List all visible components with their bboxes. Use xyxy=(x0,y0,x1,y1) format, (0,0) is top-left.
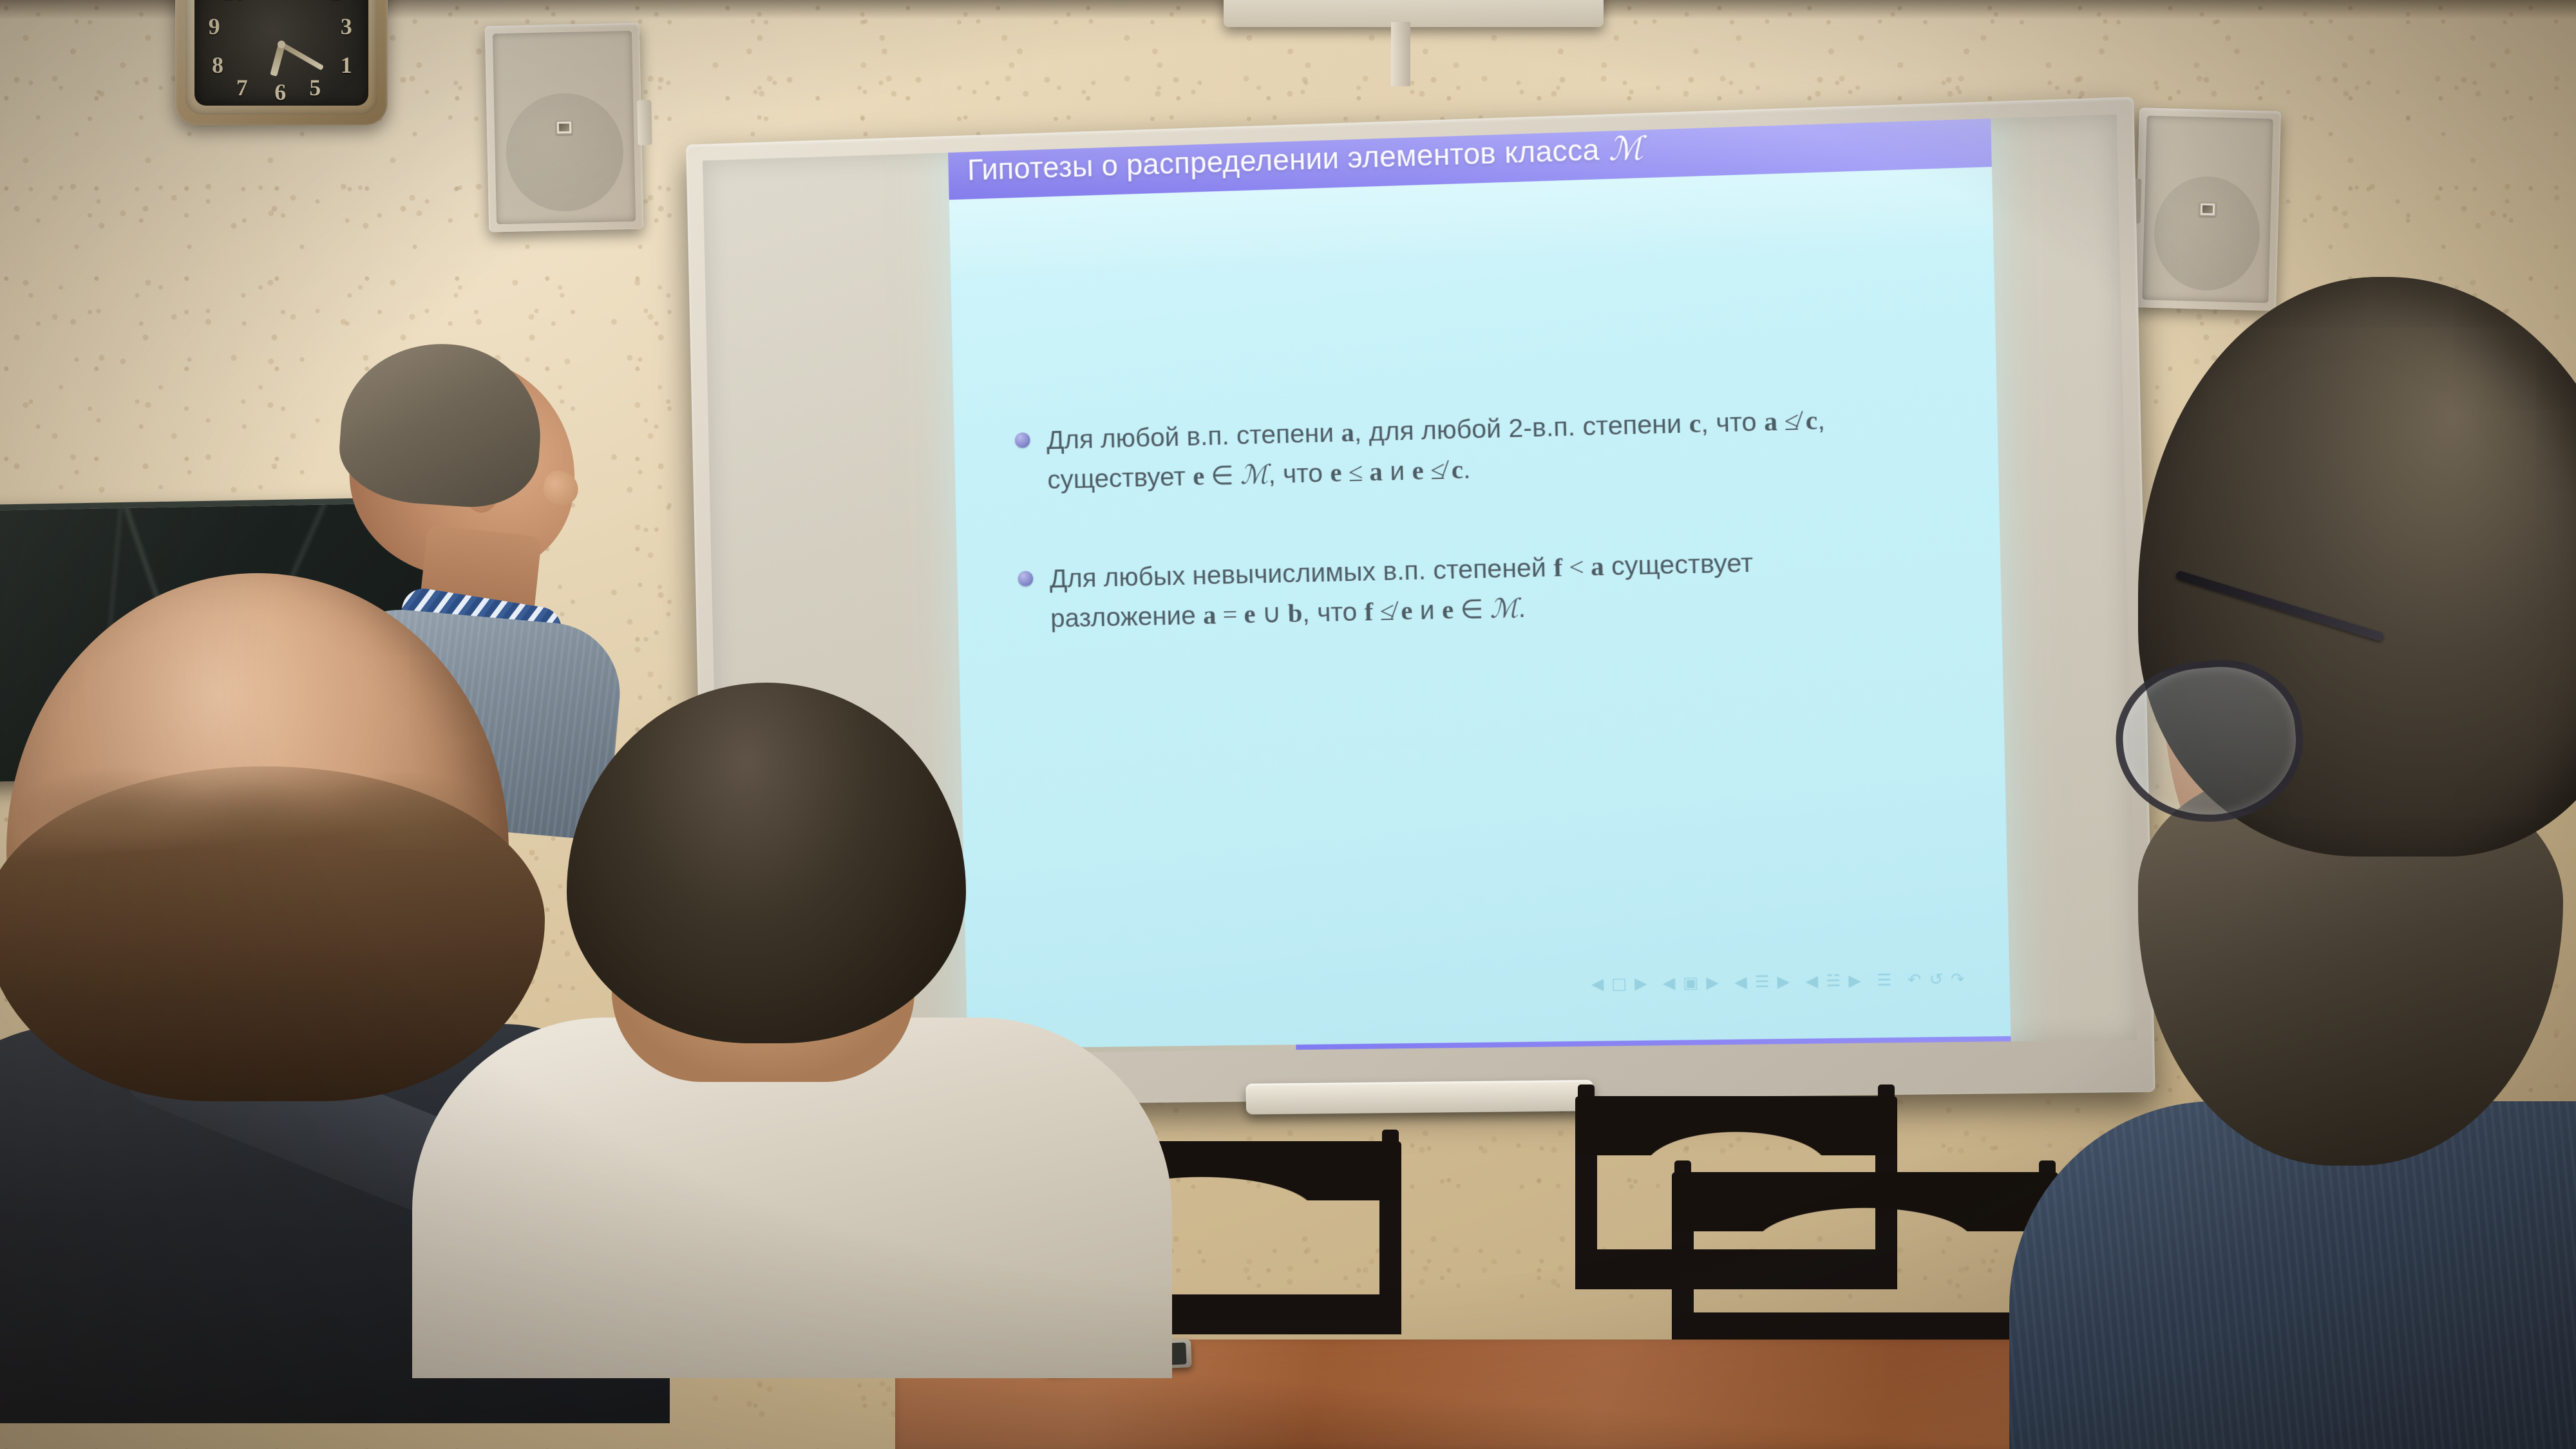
slide-text-segment: и xyxy=(1382,456,1412,486)
slide-text-segment: = xyxy=(1216,600,1244,630)
chair-crest-rail xyxy=(1672,1172,2058,1231)
projector-mount xyxy=(1224,0,1604,27)
slide-text-segment: e xyxy=(1401,596,1413,625)
clock-numeral: 9 xyxy=(209,13,220,40)
slide-text-segment: e xyxy=(1193,461,1205,491)
slide-text-segment: a xyxy=(1590,551,1604,582)
speaker-cone xyxy=(505,92,624,213)
projector-mount-pole xyxy=(1391,22,1410,86)
pen-tray xyxy=(1245,1080,1594,1115)
slide-text-segment: c xyxy=(1689,408,1701,439)
slide-bullet-item: Для любой в.п. степени a, для любой 2-в.… xyxy=(1014,397,1935,500)
slide-text-segment: ≰ xyxy=(1373,596,1401,626)
lecture-room-scene: 10 2 9 3 8 1 7 6 5 xyxy=(0,0,2576,1449)
nav-symbol-subsection[interactable]: ◀ ▣ ▶ xyxy=(1663,973,1721,992)
clock-numeral: 8 xyxy=(212,52,223,79)
slide-text-segment: f xyxy=(1553,552,1563,582)
slide-text-segment: e xyxy=(1442,594,1454,624)
slide-bullet-text: Для любой в.п. степени a, для любой 2-в.… xyxy=(1046,398,1886,500)
chair-crest-rail xyxy=(1575,1096,1897,1155)
slide-bullet-text: Для любых невычислимых в.п. степеней f <… xyxy=(1049,539,1889,638)
chair-front-right xyxy=(1672,1172,2058,1352)
slide-text-segment: b xyxy=(1287,598,1303,628)
nav-symbol-document[interactable]: ◀ ☱ ▶ xyxy=(1805,971,1862,990)
slide-text-segment: ℳ xyxy=(1240,460,1268,490)
slide-text-segment: c xyxy=(1451,455,1463,484)
slide-text-segment: ∈ xyxy=(1454,594,1490,624)
clock-numeral: 6 xyxy=(274,79,286,106)
projected-slide: Гипотезы о распределении элементов класс… xyxy=(948,115,2012,1057)
nav-symbol-frame[interactable]: ◀ □ ▶ xyxy=(1591,974,1649,993)
slide-text-segment: . xyxy=(1463,455,1470,484)
slide-text-segment: ≰ xyxy=(1423,455,1452,486)
speaker-logo-icon xyxy=(556,120,573,135)
slide-text-segment: c xyxy=(1805,405,1818,435)
clock-numeral: 3 xyxy=(341,13,352,40)
nav-symbol-back[interactable]: ☰ xyxy=(1877,971,1893,990)
slide-text-segment: Для любых невычислимых в.п. степеней xyxy=(1049,552,1554,593)
slide-text-segment: Для любой в.п. степени xyxy=(1046,418,1341,455)
slide-text-segment: и xyxy=(1412,595,1443,625)
presenter-hair xyxy=(336,337,547,511)
audience-member-bearded-glasses xyxy=(2099,277,2576,1449)
slide-text-segment: a xyxy=(1764,406,1778,437)
slide-text-segment: e xyxy=(1412,456,1424,486)
slide-text-segment: , что xyxy=(1268,458,1331,489)
clock-center-pin xyxy=(278,41,285,48)
beamer-navigation-symbols[interactable]: ◀ □ ▶ ◀ ▣ ▶ ◀ ☰ ▶ ◀ ☱ ▶ ☰ ↶ ↺ ↷ xyxy=(966,969,1966,1001)
speaker-bracket xyxy=(637,100,652,145)
clock-hour-hand xyxy=(270,44,285,77)
wall-clock: 10 2 9 3 8 1 7 6 5 xyxy=(175,0,388,125)
slide-text-segment: ∪ xyxy=(1255,598,1288,629)
bullet-dot-icon xyxy=(1015,432,1030,448)
audience-dark-head xyxy=(567,683,966,1043)
slide-text-segment: , что xyxy=(1302,596,1365,627)
nav-symbol-search[interactable]: ↶ ↺ ↷ xyxy=(1908,969,1966,989)
audience-bald-hair-wisps xyxy=(19,734,509,850)
slide-title-symbol: ℳ xyxy=(1608,129,1644,168)
slide-text-segment: ≤ xyxy=(1341,457,1370,488)
slide-text-segment: e xyxy=(1244,599,1256,629)
slide-text-segment: . xyxy=(1518,593,1526,623)
clock-face: 10 2 9 3 8 1 7 6 5 xyxy=(194,0,368,106)
clock-numeral: 7 xyxy=(236,74,248,101)
slide-bullet-item: Для любых невычислимых в.п. степеней f <… xyxy=(1018,538,1938,639)
slide-body: Для любой в.п. степени a, для любой 2-в.… xyxy=(949,167,2011,1048)
clock-numeral: 10 xyxy=(222,0,245,5)
clock-numeral: 5 xyxy=(309,74,321,101)
wall-speaker-left xyxy=(485,23,644,232)
nav-symbol-section[interactable]: ◀ ☰ ▶ xyxy=(1734,972,1792,991)
slide-text-segment: a xyxy=(1203,600,1217,630)
slide-text-segment: f xyxy=(1364,596,1374,626)
speaker-logo-icon xyxy=(2199,202,2217,217)
slide-text-segment: ℳ xyxy=(1490,593,1519,623)
speaker-cone xyxy=(2152,175,2261,292)
slide-text-segment: < xyxy=(1562,551,1591,582)
slide-text-segment: , что xyxy=(1701,406,1765,438)
slide-text-segment: e xyxy=(1330,458,1342,488)
bullet-dot-icon xyxy=(1018,571,1033,586)
clock-numeral: 1 xyxy=(341,52,352,79)
slide-text-segment: ∈ xyxy=(1204,460,1241,491)
slide-text-segment: a xyxy=(1369,457,1383,486)
audience-member-dark-hair xyxy=(535,683,1050,1327)
slide-text-segment: , для любой 2-в.п. степени xyxy=(1354,408,1689,447)
slide-text-segment: ≰ xyxy=(1777,406,1806,437)
clock-minute-hand xyxy=(280,43,324,71)
clock-numeral: 2 xyxy=(330,0,342,5)
slide-text-segment: a xyxy=(1341,417,1354,447)
